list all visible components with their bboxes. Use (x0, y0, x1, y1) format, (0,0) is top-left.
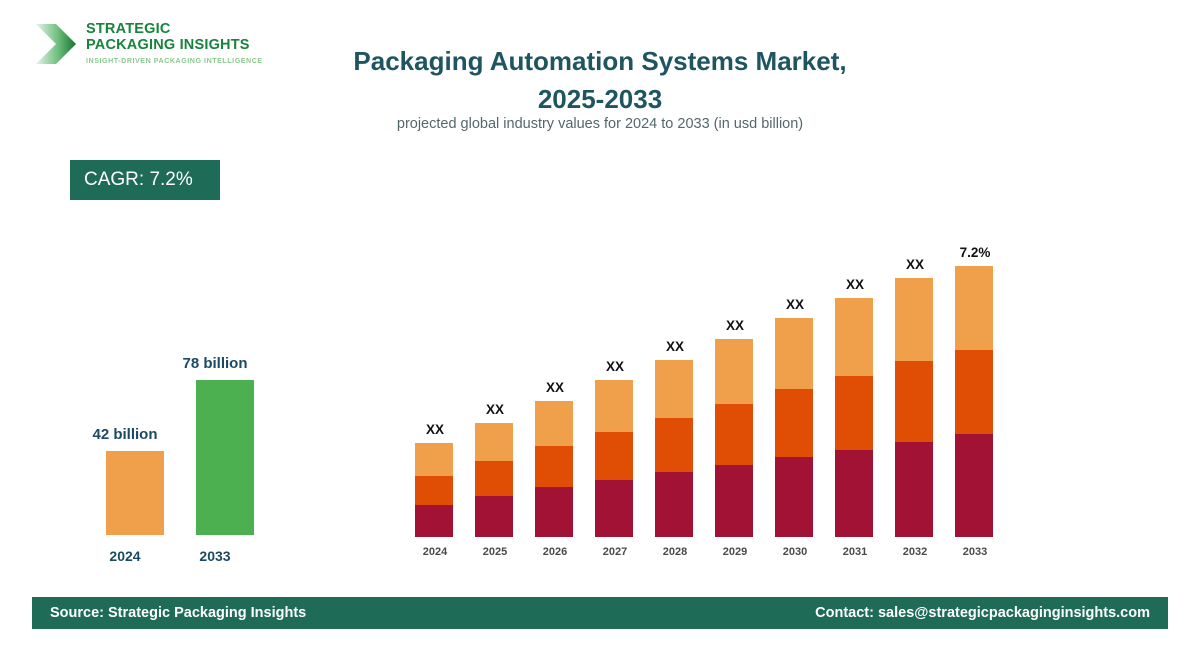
stacked-top-label: XX (819, 277, 891, 292)
stacked-segment-segment-2 (655, 418, 693, 472)
comparison-column: 78 billion2033 (170, 320, 260, 570)
stacked-bar (955, 266, 993, 537)
stacked-top-label: XX (759, 297, 831, 312)
comparison-year-label: 2024 (80, 548, 170, 564)
stacked-column: XX2028 (645, 200, 705, 560)
stacked-column: XX2032 (885, 200, 945, 560)
footer-bar: Source: Strategic Packaging Insights Con… (32, 597, 1168, 629)
stacked-top-label: 7.2% (939, 245, 1011, 260)
stacked-segment-segment-1 (475, 496, 513, 537)
stacked-segment-segment-1 (415, 505, 453, 537)
stacked-top-label: XX (399, 422, 471, 437)
stacked-segment-segment-3 (475, 423, 513, 461)
stacked-top-label: XX (459, 402, 531, 417)
comparison-year-label: 2033 (170, 548, 260, 564)
segment-stacked-forecast-chart: XX2024XX2025XX2026XX2027XX2028XX2029XX20… (405, 200, 1020, 560)
stacked-segment-segment-3 (655, 360, 693, 418)
stacked-segment-segment-2 (595, 432, 633, 480)
stacked-segment-segment-1 (595, 480, 633, 537)
comparison-value-label: 78 billion (170, 355, 260, 372)
stacked-column: 7.2%2033 (945, 200, 1005, 560)
stacked-column: XX2025 (465, 200, 525, 560)
brand-logo: STRATEGIC PACKAGING INSIGHTS INSIGHT-DRI… (32, 16, 262, 78)
stacked-segment-segment-2 (775, 389, 813, 457)
chart-page: STRATEGIC PACKAGING INSIGHTS INSIGHT-DRI… (0, 0, 1200, 650)
stacked-segment-segment-3 (835, 298, 873, 376)
stacked-segment-segment-2 (895, 361, 933, 442)
page-subtitle: projected global industry values for 202… (280, 116, 920, 132)
stacked-segment-segment-3 (895, 278, 933, 361)
stacked-bar (835, 298, 873, 537)
stacked-segment-segment-1 (535, 487, 573, 537)
stacked-column: XX2029 (705, 200, 765, 560)
stacked-bar (655, 360, 693, 537)
stacked-bar (415, 443, 453, 537)
stacked-segment-segment-1 (895, 442, 933, 537)
brand-tagline: INSIGHT-DRIVEN PACKAGING INTELLIGENCE (86, 57, 262, 65)
stacked-segment-segment-3 (715, 339, 753, 404)
stacked-segment-segment-2 (535, 446, 573, 487)
cagr-badge-label: CAGR: 7.2% (84, 169, 193, 191)
stacked-column: XX2026 (525, 200, 585, 560)
chevron-right-icon (32, 20, 80, 68)
footer-source: Source: Strategic Packaging Insights (50, 605, 306, 621)
stacked-column: XX2031 (825, 200, 885, 560)
stacked-segment-segment-2 (415, 476, 453, 505)
footer-contact: Contact: sales@strategicpackaginginsight… (815, 605, 1150, 621)
comparison-value-label: 42 billion (80, 426, 170, 443)
stacked-segment-segment-1 (835, 450, 873, 537)
stacked-bar (475, 423, 513, 537)
stacked-bar (595, 380, 633, 537)
stacked-segment-segment-2 (835, 376, 873, 450)
stacked-bar (775, 318, 813, 537)
stacked-top-label: XX (519, 380, 591, 395)
stacked-segment-segment-2 (475, 461, 513, 496)
brand-logo-text: STRATEGIC PACKAGING INSIGHTS INSIGHT-DRI… (86, 22, 262, 65)
brand-name-line2: PACKAGING INSIGHTS (86, 38, 262, 54)
stacked-top-label: XX (699, 318, 771, 333)
stacked-top-label: XX (579, 359, 651, 374)
stacked-segment-segment-1 (655, 472, 693, 537)
stacked-column: XX2024 (405, 200, 465, 560)
stacked-segment-segment-2 (715, 404, 753, 465)
stacked-segment-segment-1 (715, 465, 753, 537)
market-size-comparison-chart: 42 billion202478 billion2033 (55, 320, 270, 570)
stacked-bar (715, 339, 753, 537)
page-title-line1: Packaging Automation Systems Market, (280, 42, 920, 80)
comparison-bar (196, 380, 254, 535)
stacked-segment-segment-1 (955, 434, 993, 537)
brand-name-line1: STRATEGIC (86, 22, 262, 38)
stacked-segment-segment-3 (415, 443, 453, 476)
cagr-badge: CAGR: 7.2% (70, 160, 220, 200)
page-title: Packaging Automation Systems Market, 202… (280, 42, 920, 118)
stacked-column: XX2030 (765, 200, 825, 560)
stacked-segment-segment-3 (595, 380, 633, 432)
stacked-segment-segment-2 (955, 350, 993, 434)
stacked-year-label: 2033 (939, 546, 1011, 558)
stacked-segment-segment-3 (535, 401, 573, 446)
stacked-bar (895, 278, 933, 537)
page-title-line2: 2025-2033 (280, 80, 920, 118)
stacked-segment-segment-3 (955, 266, 993, 350)
stacked-segment-segment-3 (775, 318, 813, 389)
stacked-bar (535, 401, 573, 537)
comparison-column: 42 billion2024 (80, 320, 170, 570)
stacked-column: XX2027 (585, 200, 645, 560)
stacked-top-label: XX (639, 339, 711, 354)
comparison-bar (106, 451, 164, 535)
stacked-segment-segment-1 (775, 457, 813, 537)
